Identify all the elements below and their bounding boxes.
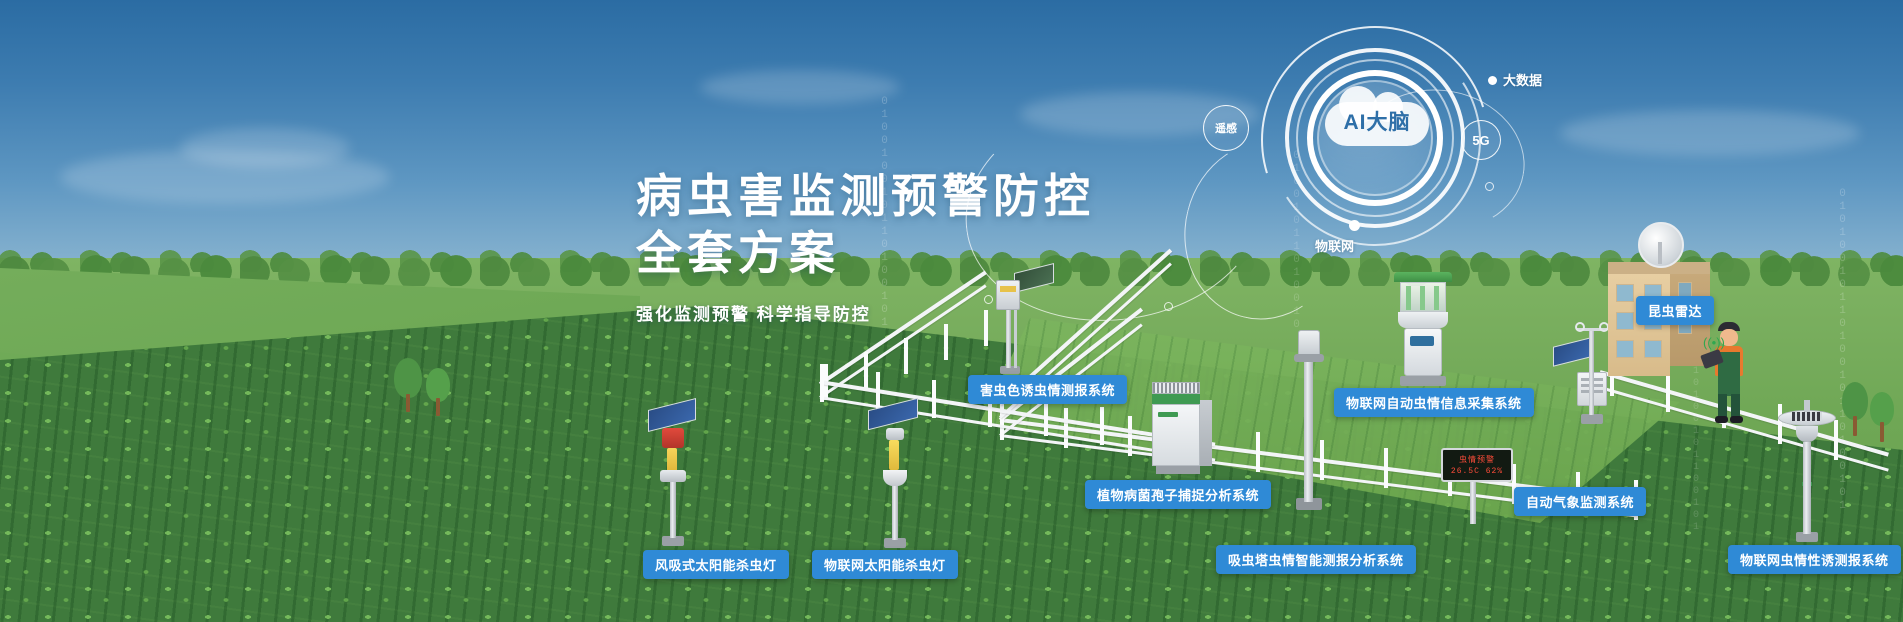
ladder-rail (1014, 310, 1017, 368)
label-iot-solar-insect-lamp[interactable]: 物联网太阳能杀虫灯 (812, 550, 958, 579)
lure-card-yellow (1000, 286, 1016, 292)
node-big-data-dot (1488, 76, 1497, 85)
worker-leg (1718, 394, 1727, 418)
collection-funnel (1796, 426, 1818, 442)
node-big-data-label: 大数据 (1503, 70, 1542, 89)
device-pole (1304, 362, 1313, 502)
lamp-tube (667, 448, 677, 472)
field-worker-with-tablet: ((•)) (1702, 322, 1754, 424)
wifi-signal-icon: ((•)) (1703, 336, 1717, 350)
label-insect-radar[interactable]: 昆虫雷达 (1636, 296, 1714, 325)
led-display-pole (1470, 482, 1476, 524)
label-iot-pheromone-forecast[interactable]: 物联网虫情性诱测报系统 (1728, 545, 1901, 574)
solar-panel (868, 398, 918, 430)
node-iot-dot (1349, 220, 1360, 231)
solar-panel (1014, 263, 1054, 293)
tower-lamp (1434, 286, 1439, 310)
device-wind-suction-solar-insect-lamp[interactable] (640, 398, 710, 548)
building-window (1616, 312, 1634, 330)
node-remote-sensing-label: 遥感 (1215, 120, 1237, 136)
cabinet-display (1158, 412, 1178, 417)
tree (424, 368, 452, 416)
tower-lamp (1406, 286, 1411, 310)
sensor-probe (1804, 400, 1810, 412)
device-base (1581, 414, 1603, 424)
tree-trunk (406, 394, 410, 412)
suction-head (1298, 330, 1320, 356)
device-spore-capture-analyzer[interactable] (1152, 382, 1212, 492)
cabinet-vent (1152, 382, 1200, 394)
device-pole (892, 486, 898, 540)
tree (392, 358, 424, 412)
building-window (1644, 340, 1662, 358)
lamp-housing (662, 428, 684, 448)
worker-shoe (1730, 416, 1743, 423)
device-pest-color-lure-monitoring[interactable] (990, 268, 1060, 378)
tree-crown (1842, 382, 1868, 420)
cloud-shape (700, 70, 900, 104)
worker-shoe (1715, 416, 1728, 423)
cabinet-side (1200, 400, 1212, 466)
device-iot-pest-info-collector[interactable] (1390, 272, 1464, 402)
cabinet-accent-stripe (1152, 394, 1200, 404)
building-window (1616, 284, 1634, 302)
building-window (1616, 340, 1634, 358)
tower-funnel (1398, 312, 1448, 328)
tree (1868, 392, 1896, 442)
illustration-canvas: 010010010110100101 01001011010010 010100… (0, 0, 1903, 622)
tree-crown (1870, 392, 1894, 426)
radar-mast (1658, 242, 1662, 264)
label-weather-station[interactable]: 自动气象监测系统 (1514, 487, 1646, 516)
fence-post (904, 338, 908, 374)
fence-post (944, 324, 948, 360)
tower-roof (1394, 272, 1452, 282)
tree-crown (426, 368, 450, 402)
cabinet-base (1156, 466, 1200, 474)
node-remote-sensing[interactable]: 遥感 (1203, 105, 1249, 151)
ai-brain-network: AI大脑 遥感 5G 大数据 物联网 (1165, 30, 1585, 270)
ai-brain-label: AI大脑 (1325, 106, 1429, 136)
device-pole (670, 482, 676, 538)
suction-fan (660, 470, 686, 482)
fence-post (932, 380, 936, 418)
solar-panel (648, 398, 696, 432)
lure-trap-box (996, 280, 1020, 310)
tree-trunk (1880, 422, 1884, 442)
device-pole (1006, 310, 1011, 368)
collection-funnel (883, 470, 907, 486)
fence-post (984, 310, 988, 346)
node-5g[interactable]: 5G (1461, 120, 1501, 160)
tower-lamp (1420, 286, 1425, 310)
cloud-shape (1560, 110, 1860, 156)
tree-crown (394, 358, 422, 398)
connector-endpoint (1485, 182, 1494, 191)
device-pole (1589, 331, 1594, 415)
suction-collar (1294, 354, 1324, 362)
anemometer-cup (1575, 322, 1585, 332)
tower-base (1400, 376, 1446, 386)
led-display-board[interactable]: 虫情预警 26.5C 62% (1441, 448, 1513, 482)
lamp-tube (889, 440, 899, 470)
device-pole (1803, 442, 1811, 534)
device-iot-pheromone-forecast[interactable] (1774, 398, 1844, 548)
device-suction-tower[interactable] (1290, 330, 1330, 520)
fence-post (820, 364, 824, 402)
label-spore-capture-analyzer[interactable]: 植物病菌孢子捕捉分析系统 (1085, 480, 1271, 509)
tree-trunk (1853, 416, 1857, 436)
worker-leg (1731, 394, 1740, 418)
pheromone-lure-rack (1792, 412, 1822, 421)
tree-trunk (436, 398, 440, 416)
label-wind-suction-solar-insect-lamp[interactable]: 风吸式太阳能杀虫灯 (643, 550, 789, 579)
cloud-shape (180, 128, 350, 168)
led-line-1: 虫情预警 (1459, 454, 1495, 465)
node-5g-label: 5G (1472, 133, 1489, 148)
device-iot-solar-insect-lamp[interactable] (862, 400, 932, 550)
led-line-2: 26.5C 62% (1451, 467, 1503, 476)
fence-post (1100, 407, 1104, 445)
tree (1840, 382, 1870, 436)
fence-post (1666, 372, 1670, 412)
label-pest-color-lure-monitoring[interactable]: 害虫色诱虫情测报系统 (968, 375, 1127, 404)
node-iot-label: 物联网 (1315, 236, 1354, 255)
solar-panel (1553, 337, 1591, 366)
label-suction-tower[interactable]: 吸虫塔虫情智能测报分析系统 (1216, 545, 1416, 574)
label-iot-pest-info-collector[interactable]: 物联网自动虫情信息采集系统 (1334, 388, 1534, 417)
lamp-housing (886, 428, 904, 440)
tower-display (1410, 336, 1434, 346)
